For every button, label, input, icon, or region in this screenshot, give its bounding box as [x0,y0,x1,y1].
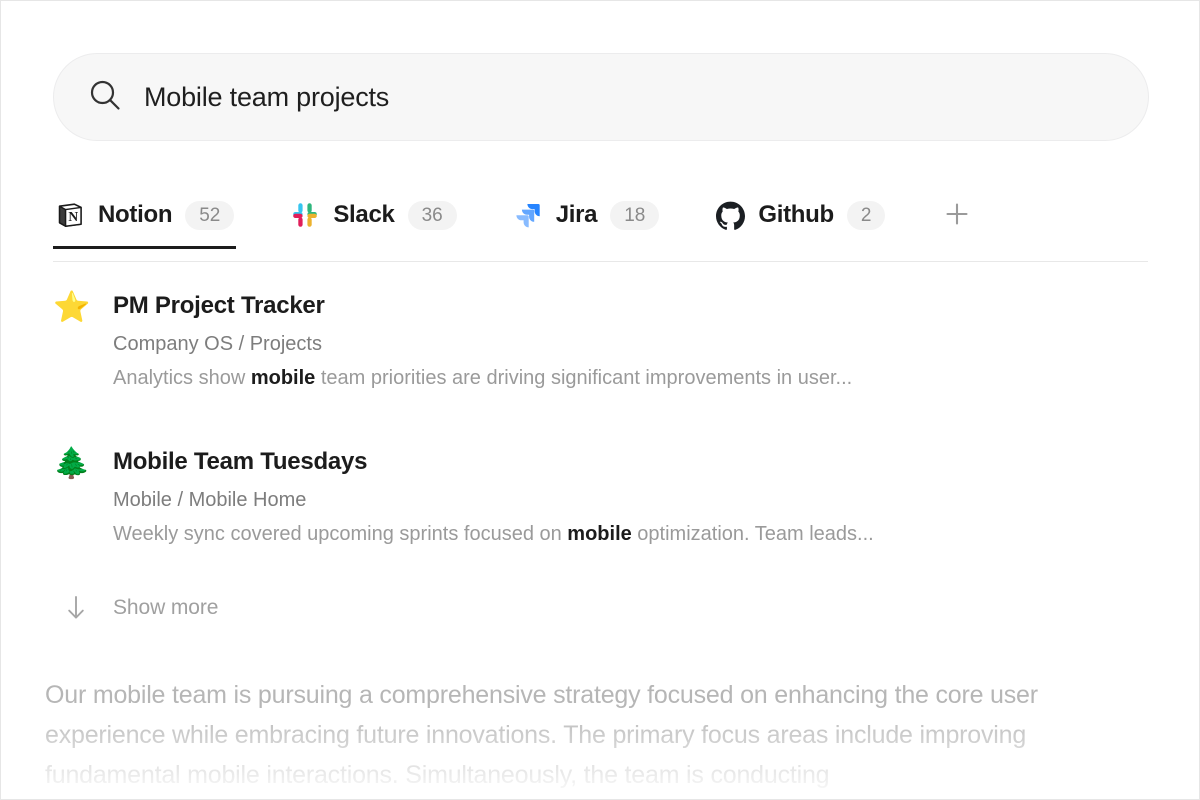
tab-label-github: Github [758,201,834,229]
search-results-list: ⭐ PM Project Tracker Company OS / Projec… [53,289,1149,623]
star-emoji: ⭐ [53,289,113,393]
evergreen-tree-emoji: 🌲 [53,445,113,549]
result-content: PM Project Tracker Company OS / Projects… [113,289,1149,393]
plus-icon [943,200,971,231]
tab-label-notion: Notion [98,201,172,229]
tab-label-slack: Slack [333,201,394,229]
show-more-button[interactable]: Show more [53,593,218,623]
search-app-window: Mobile team projects N Notion 52 [0,0,1200,800]
search-input[interactable]: Mobile team projects [53,53,1149,141]
source-tabs: N Notion 52 [53,181,1149,261]
result-item[interactable]: 🌲 Mobile Team Tuesdays Mobile / Mobile H… [53,445,1149,549]
answer-summary-block: Our mobile team is pursuing a comprehens… [45,675,1155,800]
show-more-label: Show more [113,596,218,620]
result-breadcrumb: Company OS / Projects [113,329,1149,359]
result-breadcrumb: Mobile / Mobile Home [113,485,1149,515]
snippet-highlight: mobile [567,523,631,545]
tab-count-notion: 52 [185,201,234,230]
slack-icon [290,200,320,230]
arrow-down-icon [53,593,113,623]
tabs-divider [53,261,1148,262]
jira-icon [513,200,543,230]
result-snippet: Analytics show mobile team priorities ar… [113,363,1149,393]
tab-slack[interactable]: Slack 36 [288,181,458,249]
answer-summary-text: Our mobile team is pursuing a comprehens… [45,675,1155,795]
tab-jira[interactable]: Jira 18 [511,181,662,249]
result-title: Mobile Team Tuesdays [113,445,1149,479]
result-title: PM Project Tracker [113,289,1149,323]
tab-notion[interactable]: N Notion 52 [53,181,236,249]
snippet-suffix: team priorities are driving significant … [315,367,852,389]
snippet-suffix: optimization. Team leads... [632,523,874,545]
tab-count-jira: 18 [610,201,659,230]
github-icon [715,200,745,230]
result-content: Mobile Team Tuesdays Mobile / Mobile Hom… [113,445,1149,549]
result-snippet: Weekly sync covered upcoming sprints foc… [113,519,1149,549]
result-item[interactable]: ⭐ PM Project Tracker Company OS / Projec… [53,289,1149,393]
snippet-highlight: mobile [251,367,315,389]
tab-count-slack: 36 [408,201,457,230]
tab-label-jira: Jira [556,201,598,229]
svg-text:N: N [68,209,78,224]
search-query-text: Mobile team projects [144,82,389,113]
notion-icon: N [55,200,85,230]
snippet-prefix: Weekly sync covered upcoming sprints foc… [113,523,567,545]
tab-count-github: 2 [847,201,886,230]
search-icon [88,78,122,117]
snippet-prefix: Analytics show [113,367,251,389]
add-source-button[interactable] [935,181,979,249]
tab-github[interactable]: Github 2 [713,181,887,249]
